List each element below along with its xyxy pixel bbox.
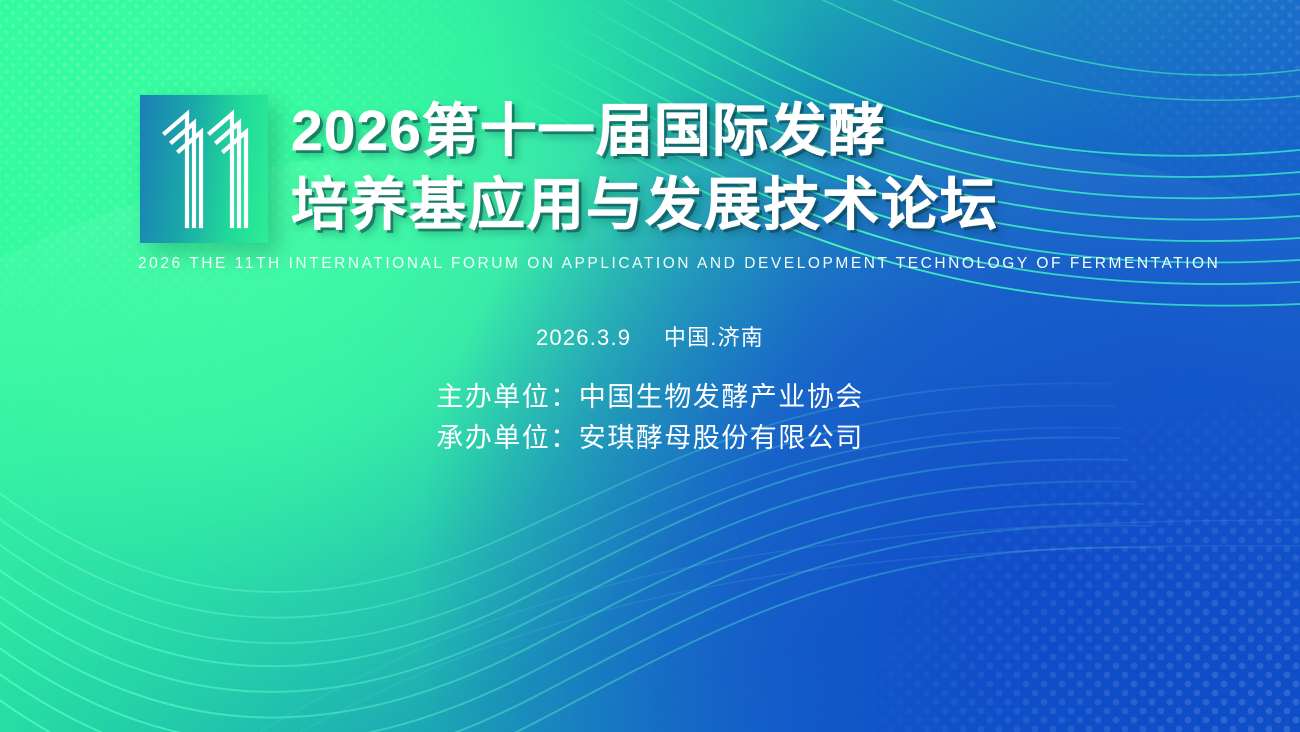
- date-location-bar: 2026.3.9 中国.济南: [0, 320, 1300, 352]
- title-line-2: 培养基应用与发展技术论坛: [291, 168, 999, 242]
- edition-number-badge: [140, 95, 268, 243]
- edition-number-11-icon: [140, 95, 268, 243]
- host-organizer: 主办单位：中国生物发酵产业协会: [0, 377, 1300, 418]
- page-title: 2026第十一届国际发酵 培养基应用与发展技术论坛: [291, 94, 999, 242]
- event-date: 2026.3.9: [536, 325, 631, 350]
- organizer-block: 主办单位：中国生物发酵产业协会 承办单位：安琪酵母股份有限公司: [0, 377, 1300, 459]
- co-organizer: 承办单位：安琪酵母股份有限公司: [0, 418, 1300, 459]
- subtitle-english: 2026 THE 11TH INTERNATIONAL FORUM ON APP…: [138, 255, 1220, 273]
- event-location: 中国.济南: [664, 325, 764, 350]
- title-line-1: 2026第十一届国际发酵: [291, 94, 999, 168]
- conference-banner: 2026第十一届国际发酵 培养基应用与发展技术论坛 2026 THE 11TH …: [0, 0, 1300, 732]
